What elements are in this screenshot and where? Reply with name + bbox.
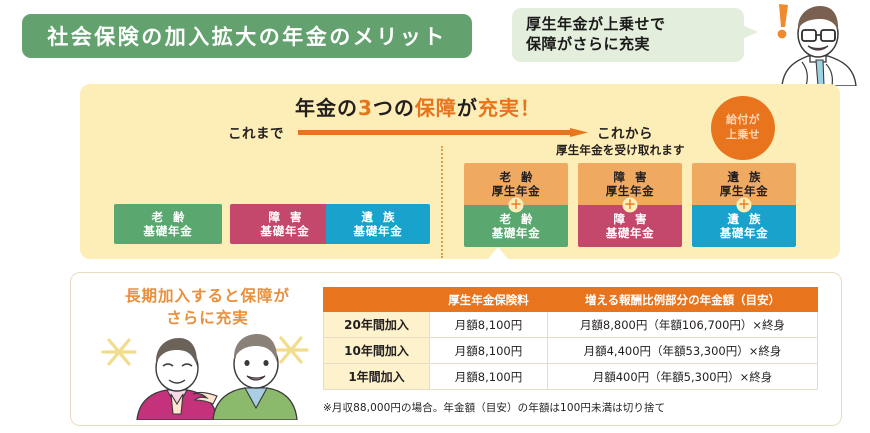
main-heading: 年金の3つの保障が充実！: [295, 92, 541, 121]
employee-survivor-name: 遺 族: [724, 170, 763, 184]
main-heading-part3: つの: [373, 96, 415, 120]
table-cell-benefit: 月額8,800円（年額106,700円）×終身: [548, 312, 818, 338]
table-header-blank: [324, 288, 430, 312]
plus-icon: ＋: [737, 198, 752, 213]
page-title: 社会保険の加入拡大の年金のメリット: [47, 21, 447, 51]
main-heading-part5: が: [457, 96, 478, 120]
basic-pension-box-old-age: 老 齢 基礎年金: [114, 204, 222, 244]
main-heading-part1: 年金の: [295, 96, 358, 120]
bottom-heading-line1: 長期加入すると保障が: [95, 285, 320, 307]
employee-disability-name: 障 害: [610, 170, 649, 184]
vertical-dotted-divider: [441, 146, 443, 258]
table-cell-premium: 月額8,100円: [430, 338, 548, 364]
table-row: 1年間加入 月額8,100円 月額400円（年額5,300円）×終身: [324, 364, 818, 390]
table-header-premium: 厚生年金保険料: [430, 288, 548, 312]
table-cell-period: 10年間加入: [324, 338, 430, 364]
table-cell-premium: 月額8,100円: [430, 364, 548, 390]
basic-survivor-after-name: 遺 族: [724, 212, 763, 226]
bonus-badge: 給付が 上乗せ: [711, 96, 775, 160]
table-cell-benefit: 月額400円（年額5,300円）×終身: [548, 364, 818, 390]
benefits-table: 厚生年金保険料 増える報酬比例部分の年金額（目安） 20年間加入 月額8,100…: [323, 287, 818, 390]
table-cell-period: 20年間加入: [324, 312, 430, 338]
basic-old-age-name: 老 齢: [148, 210, 187, 224]
basic-disability-after-type: 基礎年金: [606, 226, 654, 240]
bottom-heading-line2: さらに充実: [95, 307, 320, 329]
stacked-pension-group-survivor: 遺 族 厚生年金 ＋ 遺 族 基礎年金: [692, 163, 796, 247]
table-header-benefit: 増える報酬比例部分の年金額（目安）: [548, 288, 818, 312]
table-header-row: 厚生年金保険料 増える報酬比例部分の年金額（目安）: [324, 288, 818, 312]
table-cell-period: 1年間加入: [324, 364, 430, 390]
timeline-before-label: これまで: [228, 122, 284, 142]
plus-icon: ＋: [509, 198, 524, 213]
main-heading-bang: ！: [520, 96, 541, 120]
main-heading-hosho: 保障: [415, 96, 457, 120]
basic-old-age-after-type: 基礎年金: [492, 226, 540, 240]
employee-old-age-type: 厚生年金: [492, 184, 540, 198]
basic-disability-type: 基礎年金: [260, 224, 309, 238]
exclamation-mark-icon: [772, 2, 794, 42]
table-cell-benefit: 月額4,400円（年額53,300円）×終身: [548, 338, 818, 364]
bonus-badge-line1: 給付が: [726, 113, 760, 128]
timeline-after-label: これから: [597, 122, 653, 142]
table-cell-premium: 月額8,100円: [430, 312, 548, 338]
basic-survivor-after-type: 基礎年金: [720, 226, 768, 240]
page-title-banner: 社会保険の加入拡大の年金のメリット: [22, 14, 472, 58]
basic-survivor-type: 基礎年金: [353, 224, 402, 238]
table-footnote: ※月収88,000円の場合。年金額（目安）の年額は100円未満は切り捨て: [323, 400, 665, 415]
main-heading-number: 3: [358, 96, 373, 120]
plus-icon: ＋: [623, 198, 638, 213]
timeline-after-sublabel: 厚生年金を受け取れます: [556, 142, 685, 158]
employee-old-age-name: 老 齢: [496, 170, 535, 184]
employee-disability-type: 厚生年金: [606, 184, 654, 198]
basic-survivor-name: 遺 族: [358, 210, 397, 224]
basic-pension-box-disability: 障 害 基礎年金: [230, 204, 340, 244]
speech-bubble-line1: 厚生年金が上乗せで: [526, 15, 744, 35]
elderly-couple-illustration: [95, 330, 320, 420]
timeline-arrow-icon: [298, 128, 588, 137]
speech-bubble-tail-icon: [740, 24, 758, 40]
stacked-pension-group-disability: 障 害 厚生年金 ＋ 障 害 基礎年金: [578, 163, 682, 247]
basic-old-age-after-name: 老 齢: [496, 212, 535, 226]
table-row: 20年間加入 月額8,100円 月額8,800円（年額106,700円）×終身: [324, 312, 818, 338]
bonus-badge-line2: 上乗せ: [726, 128, 760, 143]
stacked-pension-group-old-age: 老 齢 厚生年金 ＋ 老 齢 基礎年金: [464, 163, 568, 247]
basic-disability-after-name: 障 害: [610, 212, 649, 226]
speech-bubble-line2: 保障がさらに充実: [526, 35, 744, 55]
main-heading-jujitsu: 充実: [478, 96, 520, 120]
speech-bubble: 厚生年金が上乗せで 保障がさらに充実: [512, 8, 744, 62]
employee-survivor-type: 厚生年金: [720, 184, 768, 198]
bottom-heading: 長期加入すると保障が さらに充実: [95, 285, 320, 330]
table-row: 10年間加入 月額8,100円 月額4,400円（年額53,300円）×終身: [324, 338, 818, 364]
basic-disability-name: 障 害: [265, 210, 304, 224]
basic-pension-box-survivor: 遺 族 基礎年金: [326, 204, 430, 244]
basic-old-age-type: 基礎年金: [143, 224, 192, 238]
